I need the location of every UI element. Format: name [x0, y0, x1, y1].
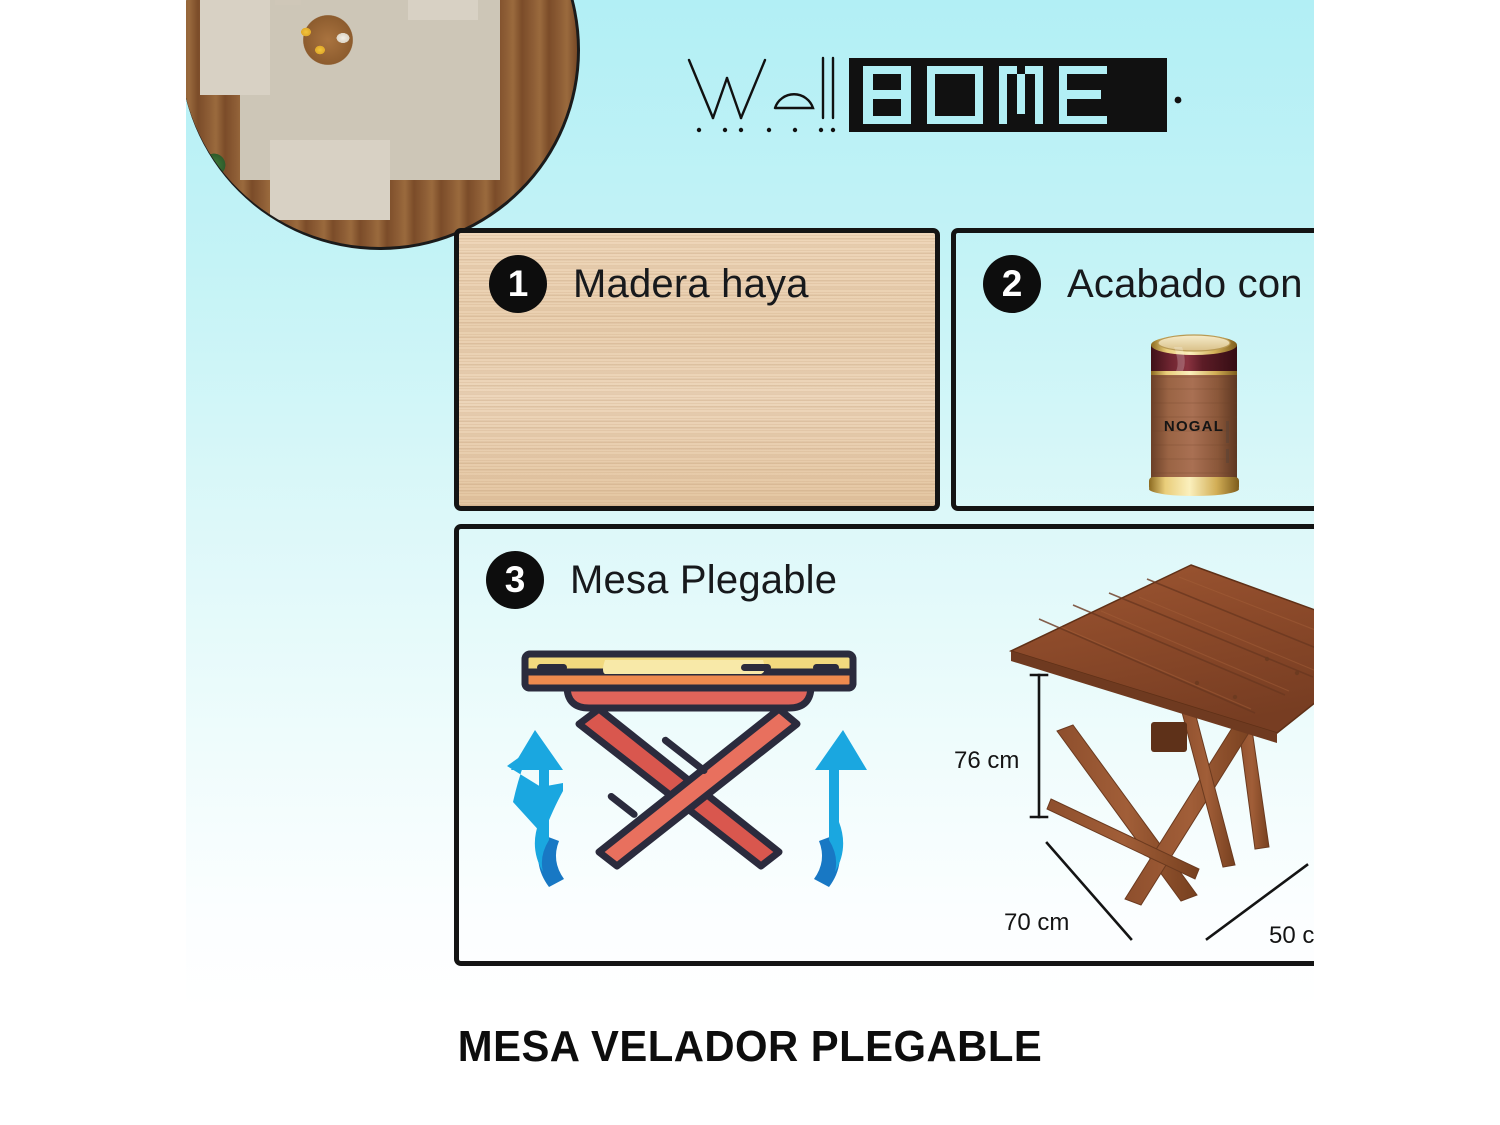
feature-2-label: Acabado con barniz — [1067, 262, 1314, 307]
folding-table-illustration — [479, 634, 899, 934]
cyan-background-panel: 1 Madera haya 2 Acabado con barniz — [186, 0, 1314, 1010]
feature-1-header: 1 Madera haya — [489, 255, 809, 313]
infographic-canvas: 1 Madera haya 2 Acabado con barniz — [0, 0, 1500, 1125]
feature-box-mesa-plegable: 3 Mesa Plegable — [454, 524, 1314, 966]
dimension-height-label: 76 cm — [954, 747, 1019, 775]
feature-1-number-badge: 1 — [489, 255, 547, 313]
feature-3-number-badge: 3 — [486, 551, 544, 609]
fold-arrow-left-icon — [507, 730, 564, 887]
fold-arrow-right-icon — [814, 730, 867, 887]
feature-2-header: 2 Acabado con barniz — [983, 255, 1314, 313]
dimension-depth-label: 70 cm — [1004, 909, 1069, 937]
feature-box-acabado-barniz: 2 Acabado con barniz — [951, 228, 1314, 511]
varnish-can-image: NOGAL — [1144, 325, 1244, 505]
wellhome-logo — [683, 52, 1183, 140]
feature-3-header: 3 Mesa Plegable — [486, 551, 837, 609]
feature-2-number-badge: 2 — [983, 255, 1041, 313]
feature-3-label: Mesa Plegable — [570, 558, 837, 603]
lifestyle-room-photo — [186, 0, 580, 250]
feature-box-madera-haya: 1 Madera haya — [454, 228, 940, 511]
feature-1-label: Madera haya — [573, 262, 809, 307]
can-label-text: NOGAL — [1164, 418, 1224, 435]
dimension-width-label: 50 cm — [1269, 922, 1314, 950]
product-title: MESA VELADOR PLEGABLE — [38, 1022, 1463, 1072]
